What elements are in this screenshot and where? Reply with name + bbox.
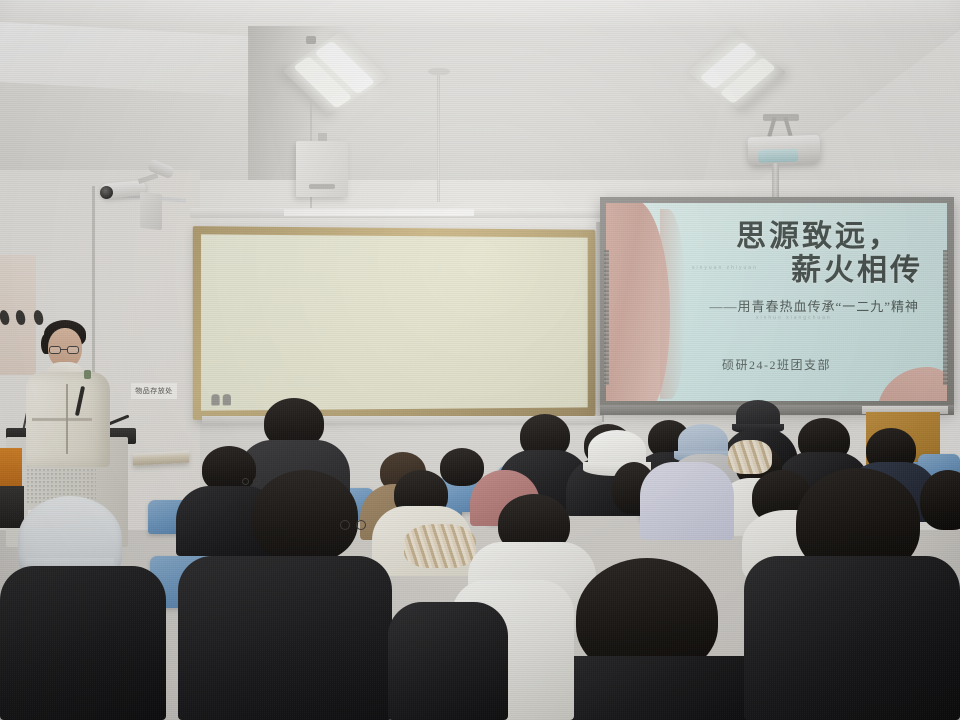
screen-right-track <box>943 250 948 385</box>
pendant-rod <box>437 72 440 202</box>
person-body <box>640 462 734 540</box>
slide-title-line-1: 思源致远， <box>736 221 901 253</box>
whiteboard <box>193 226 596 420</box>
person-head <box>252 470 358 562</box>
orange-equipment-box <box>0 448 22 486</box>
projection-screen: 思源致远， sinyuan zhiyuan 薪火相传 xinhuo xiangc… <box>600 197 954 409</box>
classroom-scene: 思源致远， sinyuan zhiyuan 薪火相传 xinhuo xiangc… <box>0 0 960 720</box>
fur-hood-trim <box>728 440 772 474</box>
ceiling-projector-icon <box>748 135 821 165</box>
whiteboard-magnets <box>211 394 234 405</box>
wall-speaker-icon <box>296 141 348 197</box>
denim-cap <box>678 424 728 458</box>
person-body <box>388 602 508 720</box>
presenter-jacket-logo <box>84 370 91 379</box>
slide-title-line-2: 薪火相传 <box>791 255 923 287</box>
storage-sign-label: 物品存放处 <box>135 386 173 396</box>
speaker-vent <box>309 184 335 189</box>
black-cap <box>736 400 780 430</box>
slide-organization: 硕研24-2班团支部 <box>722 356 831 373</box>
security-camera-lens <box>100 186 113 199</box>
whiteboard-surface <box>201 234 588 410</box>
screen-left-track <box>604 250 609 385</box>
glasses-icon <box>242 478 260 485</box>
slide-ghost-pinyin-1: sinyuan zhiyuan <box>692 265 758 271</box>
light-left-mount <box>306 36 316 44</box>
dark-equipment-box <box>0 486 24 528</box>
person-head <box>440 448 484 486</box>
fur-hood-trim <box>404 524 476 568</box>
screen-support-pole <box>772 163 779 199</box>
person-body <box>178 556 392 720</box>
slide-ghost-pinyin-2: xinhuo xiangchuan <box>756 315 832 321</box>
glasses-icon <box>340 520 366 530</box>
projection-screen-surface: 思源致远， sinyuan zhiyuan 薪火相传 xinhuo xiangc… <box>606 203 947 401</box>
presenter-glasses-icon <box>49 346 81 354</box>
wall-hook-icon <box>0 309 10 326</box>
projector-lens <box>758 149 798 163</box>
presenter-jacket-pocket <box>32 418 92 421</box>
slide-subtitle: ——用青春热血传承“一二九”精神 <box>709 296 919 315</box>
whiteboard-top-rail-light <box>284 209 474 216</box>
storage-area-sign: 物品存放处 <box>131 383 177 399</box>
ceiling-top-band <box>0 0 960 30</box>
left-wall-speaker-icon <box>140 192 162 230</box>
person-body <box>744 556 960 720</box>
presenter <box>22 312 114 462</box>
person-body <box>0 566 166 720</box>
pendant-ceiling-cap <box>428 68 450 75</box>
